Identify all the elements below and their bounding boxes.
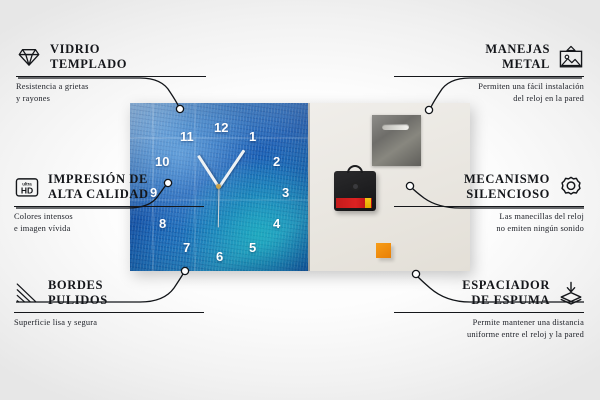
feature-espaciador-espuma[interactable]: ESPACIADOR DE ESPUMA Permite mantener un…	[394, 278, 584, 341]
svg-text:HD: HD	[21, 185, 33, 195]
feature-title-line2: METAL	[502, 57, 550, 71]
feature-header: MANEJAS METAL	[394, 42, 584, 72]
gear-icon	[558, 174, 584, 200]
feature-title: MANEJAS METAL	[394, 42, 550, 72]
feature-desc-line2: no emiten ningún sonido	[496, 224, 584, 233]
feature-description: Las manecillas del reloj no emiten ningú…	[394, 211, 584, 235]
feature-title-line1: IMPRESIÓN DE	[48, 172, 148, 186]
feature-title-line1: MANEJAS	[485, 42, 550, 56]
quartz-movement	[334, 171, 376, 211]
feature-title: IMPRESIÓN DE ALTA CALIDAD	[48, 172, 204, 202]
feature-title-line1: VIDRIO	[50, 42, 100, 56]
feature-header: VIDRIO TEMPLADO	[16, 42, 206, 72]
hanger-keyhole-slot	[382, 124, 409, 130]
picture-frame-hanger-icon	[558, 44, 584, 70]
movement-shaft	[353, 184, 358, 189]
feature-desc-line2: y rayones	[16, 94, 50, 103]
feature-manejas-metal[interactable]: MANEJAS METAL Permiten una fácil instala…	[394, 42, 584, 105]
connector-dot-espaciador	[412, 270, 419, 277]
feature-underline	[394, 312, 584, 313]
feature-desc-line1: Permite mantener una distancia	[473, 318, 584, 327]
feature-desc-line1: Las manecillas del reloj	[499, 212, 584, 221]
feature-header: ultra HD IMPRESIÓN DE ALTA CALIDAD	[14, 172, 204, 202]
clock-numeral-7: 7	[183, 241, 190, 254]
feature-bordes-pulidos[interactable]: BORDES PULIDOS Superficie lisa y segura	[14, 278, 204, 329]
feature-desc-line2: e imagen vívida	[14, 224, 71, 233]
feature-desc-line1: Resistencia a grietas	[16, 82, 89, 91]
feature-underline	[394, 206, 584, 207]
foam-spacer-pad	[376, 243, 391, 258]
feature-impresion-alta-calidad[interactable]: ultra HD IMPRESIÓN DE ALTA CALIDAD Color…	[14, 172, 204, 235]
metal-hanger-plate	[372, 115, 421, 166]
feature-header: MECANISMO SILENCIOSO	[394, 172, 584, 202]
feature-underline	[394, 76, 584, 77]
clock-numeral-11: 11	[180, 130, 194, 143]
feature-vidrio-templado[interactable]: VIDRIO TEMPLADO Resistencia a grietas y …	[16, 42, 206, 105]
feature-title-line1: MECANISMO	[464, 172, 550, 186]
feature-desc-line1: Permiten una fácil instalación	[478, 82, 584, 91]
infographic-canvas: 12 1 2 3 4 5 6 7 8 9 10 11	[0, 0, 600, 400]
feature-title-line2: DE ESPUMA	[471, 293, 550, 307]
feature-description: Superficie lisa y segura	[14, 317, 204, 329]
feature-title-line2: PULIDOS	[48, 293, 108, 307]
feature-header: ESPACIADOR DE ESPUMA	[394, 278, 584, 308]
clock-center-cap	[216, 184, 221, 189]
clock-numeral-12: 12	[214, 121, 228, 134]
feature-title-line2: TEMPLADO	[50, 57, 127, 71]
clock-numeral-6: 6	[216, 250, 223, 263]
clock-numeral-2: 2	[273, 155, 280, 168]
feature-underline	[14, 206, 204, 207]
feature-description: Resistencia a grietas y rayones	[16, 81, 206, 105]
feature-description: Permiten una fácil instalación del reloj…	[394, 81, 584, 105]
feature-title-line2: ALTA CALIDAD	[48, 187, 149, 201]
ultra-hd-icon: ultra HD	[14, 174, 40, 200]
feature-title: ESPACIADOR DE ESPUMA	[394, 278, 550, 308]
feature-underline	[16, 76, 206, 77]
feature-header: BORDES PULIDOS	[14, 278, 204, 308]
feature-title: VIDRIO TEMPLADO	[50, 42, 206, 72]
feature-title-line1: ESPACIADOR	[462, 278, 550, 292]
feature-mecanismo-silencioso[interactable]: MECANISMO SILENCIOSO Las manecillas del …	[394, 172, 584, 235]
feature-description: Colores intensos e imagen vívida	[14, 211, 204, 235]
feature-desc-line2: del reloj en la pared	[513, 94, 584, 103]
movement-red-label	[336, 198, 372, 208]
clock-numeral-10: 10	[155, 155, 169, 168]
clock-numeral-1: 1	[249, 130, 256, 143]
feature-title-line2: SILENCIOSO	[466, 187, 550, 201]
feature-desc-line2: uniforme entre el reloj y la pared	[467, 330, 584, 339]
feature-desc-line1: Superficie lisa y segura	[14, 318, 97, 327]
feature-desc-line1: Colores intensos	[14, 212, 73, 221]
clock-numeral-3: 3	[282, 186, 289, 199]
feature-title: MECANISMO SILENCIOSO	[394, 172, 550, 202]
press-down-pad-icon	[558, 280, 584, 306]
feature-description: Permite mantener una distancia uniforme …	[394, 317, 584, 341]
clock-numeral-4: 4	[273, 217, 280, 230]
clock-numeral-5: 5	[249, 241, 256, 254]
polished-edge-icon	[14, 280, 40, 306]
feature-title: BORDES PULIDOS	[48, 278, 204, 308]
feature-underline	[14, 312, 204, 313]
feature-title-line1: BORDES	[48, 278, 103, 292]
diamond-icon	[16, 44, 42, 70]
